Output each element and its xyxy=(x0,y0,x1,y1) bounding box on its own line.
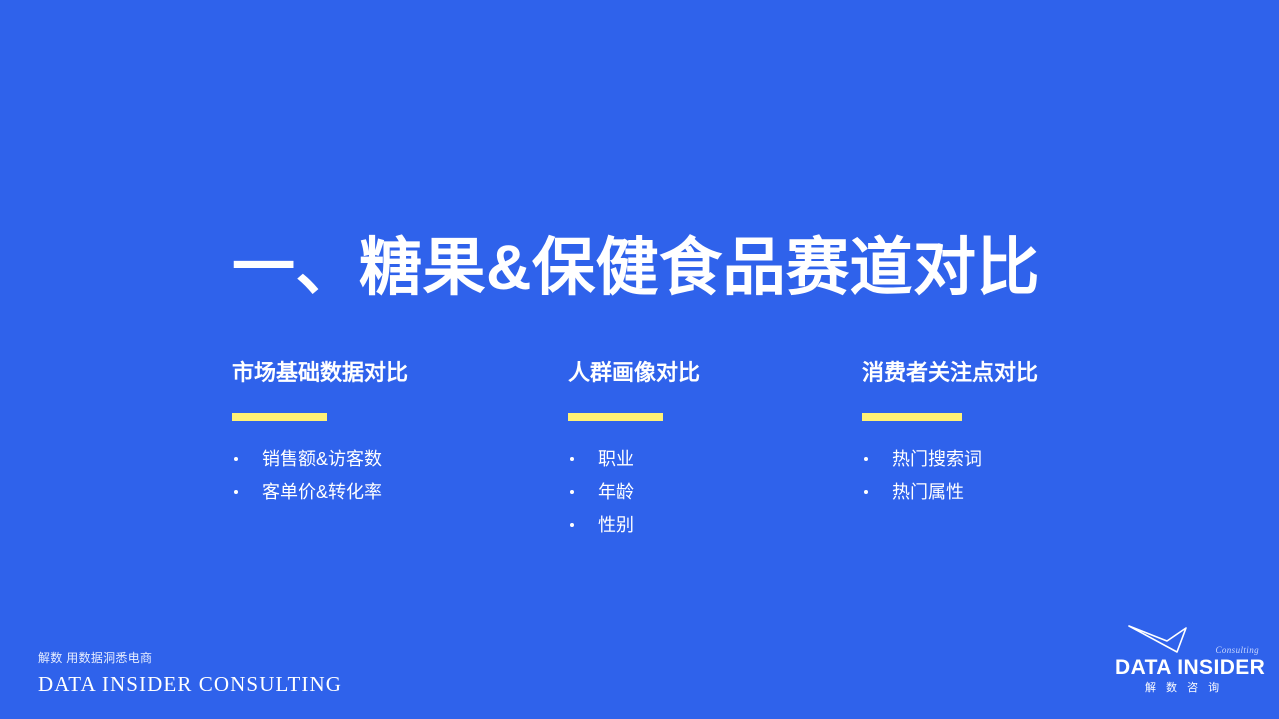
list-item: 热门搜索词 xyxy=(862,443,1182,476)
list-item-label: 销售额&访客数 xyxy=(262,449,382,469)
logo-wordmark-cn: 解 数 咨 询 xyxy=(1145,679,1223,695)
column-market-data: 市场基础数据对比 销售额&访客数 客单价&转化率 xyxy=(232,358,552,509)
list-item: 性别 xyxy=(568,509,848,542)
bullet-dot-icon xyxy=(234,457,238,461)
list-item-label: 职业 xyxy=(598,449,634,469)
page-title: 一、糖果&保健食品赛道对比 xyxy=(232,225,1132,311)
footer-tagline-en: DATA INSIDER CONSULTING xyxy=(38,671,342,697)
bullet-dot-icon xyxy=(864,490,868,494)
brand-logo: Consulting DATA INSIDER 解 数 咨 询 xyxy=(1113,623,1263,695)
footer-tagline-cn: 解数 用数据洞悉电商 xyxy=(38,650,342,666)
column-heading: 人群画像对比 xyxy=(568,358,848,388)
list-item: 客单价&转化率 xyxy=(232,476,552,509)
list-item-label: 性别 xyxy=(598,515,634,535)
column-accent-rule xyxy=(568,413,663,421)
column-bullet-list: 热门搜索词 热门属性 xyxy=(862,443,1182,509)
list-item-label: 热门搜索词 xyxy=(892,449,982,469)
column-bullet-list: 销售额&访客数 客单价&转化率 xyxy=(232,443,552,509)
column-audience-profile: 人群画像对比 职业 年龄 性别 xyxy=(568,358,848,542)
bowtie-icon xyxy=(1127,623,1189,660)
column-bullet-list: 职业 年龄 性别 xyxy=(568,443,848,542)
bullet-dot-icon xyxy=(570,523,574,527)
list-item: 职业 xyxy=(568,443,848,476)
column-heading: 市场基础数据对比 xyxy=(232,358,552,388)
columns-container: 市场基础数据对比 销售额&访客数 客单价&转化率 人群画像对比 职业 xyxy=(0,358,1279,578)
logo-wordmark: DATA INSIDER xyxy=(1115,656,1265,680)
column-consumer-focus: 消费者关注点对比 热门搜索词 热门属性 xyxy=(862,358,1182,509)
column-accent-rule xyxy=(232,413,327,421)
bullet-dot-icon xyxy=(570,457,574,461)
column-accent-rule xyxy=(862,413,962,421)
list-item-label: 热门属性 xyxy=(892,482,964,502)
column-heading: 消费者关注点对比 xyxy=(862,358,1182,388)
logo-script-text: Consulting xyxy=(1215,645,1259,655)
list-item: 销售额&访客数 xyxy=(232,443,552,476)
slide-canvas: 一、糖果&保健食品赛道对比 市场基础数据对比 销售额&访客数 客单价&转化率 人… xyxy=(0,0,1279,719)
bullet-dot-icon xyxy=(570,490,574,494)
list-item-label: 年龄 xyxy=(598,482,634,502)
list-item: 年龄 xyxy=(568,476,848,509)
bullet-dot-icon xyxy=(864,457,868,461)
footer-tagline: 解数 用数据洞悉电商 DATA INSIDER CONSULTING xyxy=(38,650,342,697)
bullet-dot-icon xyxy=(234,490,238,494)
list-item: 热门属性 xyxy=(862,476,1182,509)
list-item-label: 客单价&转化率 xyxy=(262,482,382,502)
